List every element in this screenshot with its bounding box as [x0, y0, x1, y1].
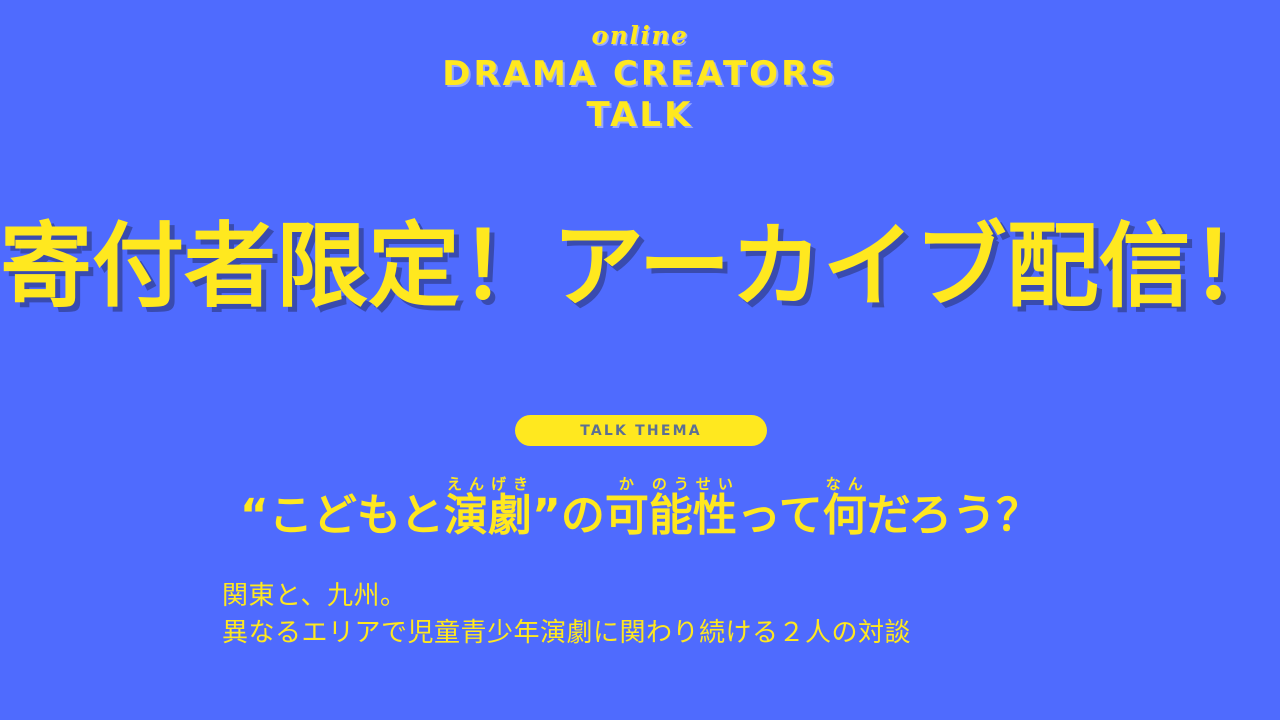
theme-plain-segment: と	[400, 490, 444, 541]
talk-description: 関東と、九州。 異なるエリアで児童青少年演劇に関わり続ける２人の対談	[222, 578, 911, 652]
theme-plain-segment: ”の	[532, 490, 605, 541]
theme-ruby-segment: 何なん	[823, 490, 867, 541]
talk-theme-line: “こどもと演劇えんげき”の可か能のう性せいって何なんだろう？	[0, 468, 1280, 542]
theme-furigana: えんげき	[444, 475, 532, 493]
theme-ruby-segment: 演劇えんげき	[444, 490, 532, 541]
theme-plain-segment: だろう？	[867, 490, 1040, 541]
theme-furigana: せい	[693, 475, 737, 493]
theme-ruby-segment: 性せい	[693, 490, 737, 541]
talk-thema-label: TALK THEMA	[580, 423, 702, 439]
brand-subtitle: TALK	[0, 95, 1280, 135]
talk-thema-badge: TALK THEMA	[515, 415, 767, 446]
slide-root: online DRAMA CREATORS TALK 寄付者限定！アーカイブ配信…	[0, 0, 1280, 720]
theme-furigana: のう	[649, 475, 693, 493]
brand-eyebrow: online	[0, 22, 1280, 50]
theme-plain-segment: “こども	[240, 490, 400, 541]
theme-furigana: なん	[823, 475, 867, 493]
theme-ruby-segment: 能のう	[649, 490, 693, 541]
description-line-1: 関東と、九州。	[222, 578, 911, 615]
talk-theme-text: “こどもと演劇えんげき”の可か能のう性せいって何なんだろう？	[240, 468, 1040, 542]
theme-plain-segment: って	[737, 490, 823, 541]
description-line-2: 異なるエリアで児童青少年演劇に関わり続ける２人の対談	[222, 615, 911, 652]
theme-furigana: か	[605, 475, 649, 493]
brand-title: DRAMA CREATORS	[0, 53, 1280, 95]
brand-header: online DRAMA CREATORS TALK	[0, 22, 1280, 135]
theme-ruby-segment: 可か	[605, 490, 649, 541]
main-headline: 寄付者限定！アーカイブ配信！	[0, 212, 1280, 322]
